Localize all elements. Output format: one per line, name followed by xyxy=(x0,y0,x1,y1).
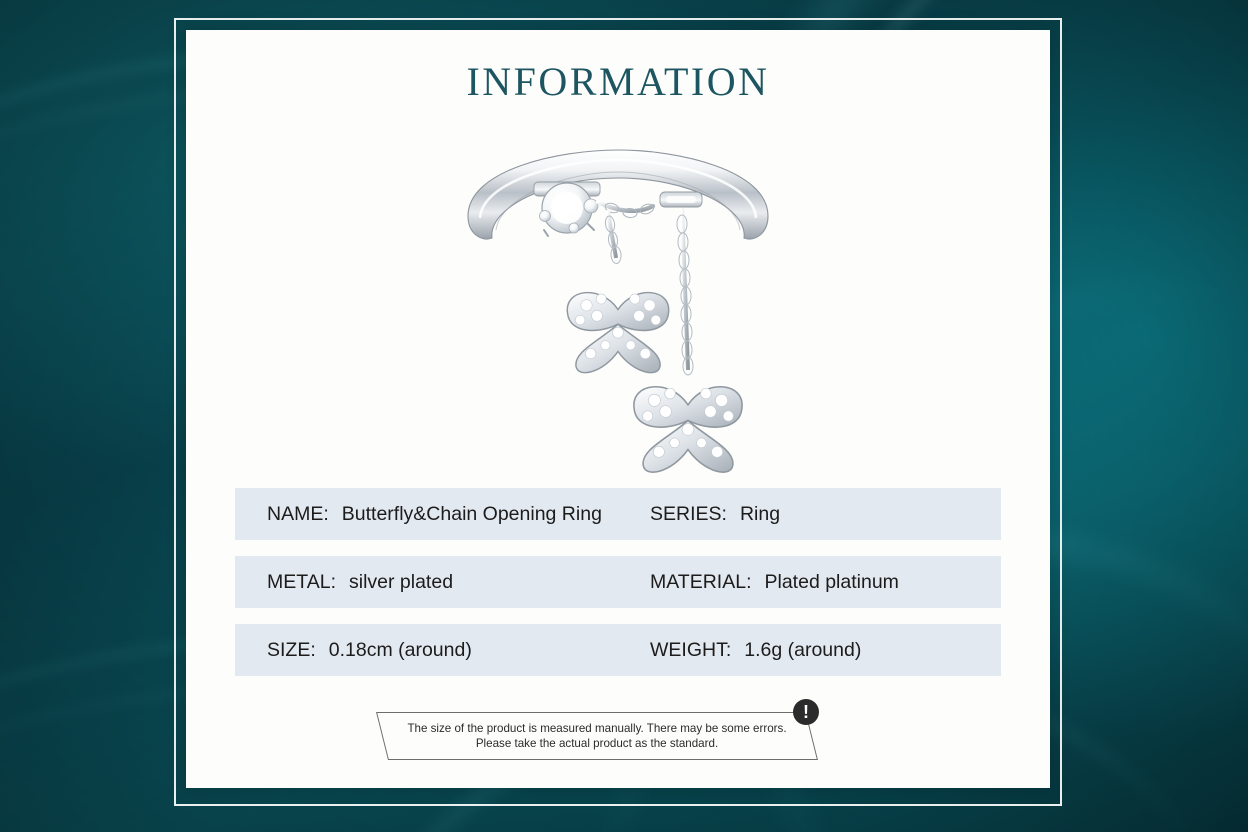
spec-cell-metal: METAL: silver plated xyxy=(267,571,453,594)
spec-label: MATERIAL: xyxy=(650,571,752,594)
spec-value: Ring xyxy=(740,503,780,526)
page-title: INFORMATION xyxy=(186,58,1050,105)
disclaimer-note: The size of the product is measured manu… xyxy=(382,712,812,760)
spec-value: Plated platinum xyxy=(765,571,899,594)
spec-label: WEIGHT: xyxy=(650,639,731,662)
table-row: NAME: Butterfly&Chain Opening Ring SERIE… xyxy=(235,488,1001,540)
spec-label: METAL: xyxy=(267,571,336,594)
spec-cell-material: MATERIAL: Plated platinum xyxy=(650,571,899,594)
table-row: METAL: silver plated MATERIAL: Plated pl… xyxy=(235,556,1001,608)
spec-cell-size: SIZE: 0.18cm (around) xyxy=(267,639,472,662)
ring-band xyxy=(468,150,768,239)
ring-illustration xyxy=(448,138,788,478)
specification-table: NAME: Butterfly&Chain Opening Ring SERIE… xyxy=(235,488,1001,692)
table-row: SIZE: 0.18cm (around) WEIGHT: 1.6g (arou… xyxy=(235,624,1001,676)
spec-value: 0.18cm (around) xyxy=(329,639,472,662)
butterfly-charm-2 xyxy=(634,387,742,472)
warning-exclamation-icon: ! xyxy=(793,699,819,725)
spec-value: 1.6g (around) xyxy=(744,639,861,662)
spec-label: SERIES: xyxy=(650,503,727,526)
ring-right-terminal xyxy=(660,192,702,207)
spec-label: NAME: xyxy=(267,503,329,526)
disclaimer-text: The size of the product is measured manu… xyxy=(382,712,812,760)
information-card: INFORMATION xyxy=(186,30,1050,788)
spec-label: SIZE: xyxy=(267,639,316,662)
butterfly-charm-1 xyxy=(567,293,668,373)
ring-cz-cluster xyxy=(534,182,600,236)
spec-cell-name: NAME: Butterfly&Chain Opening Ring xyxy=(267,503,602,526)
product-image xyxy=(448,138,788,478)
disclaimer-line-1: The size of the product is measured manu… xyxy=(407,721,786,736)
spec-value: silver plated xyxy=(349,571,453,594)
spec-cell-weight: WEIGHT: 1.6g (around) xyxy=(650,639,861,662)
disclaimer-line-2: Please take the actual product as the st… xyxy=(476,736,718,751)
screenshot-root: INFORMATION xyxy=(0,0,1248,832)
spec-value: Butterfly&Chain Opening Ring xyxy=(342,503,602,526)
spec-cell-series: SERIES: Ring xyxy=(650,503,780,526)
